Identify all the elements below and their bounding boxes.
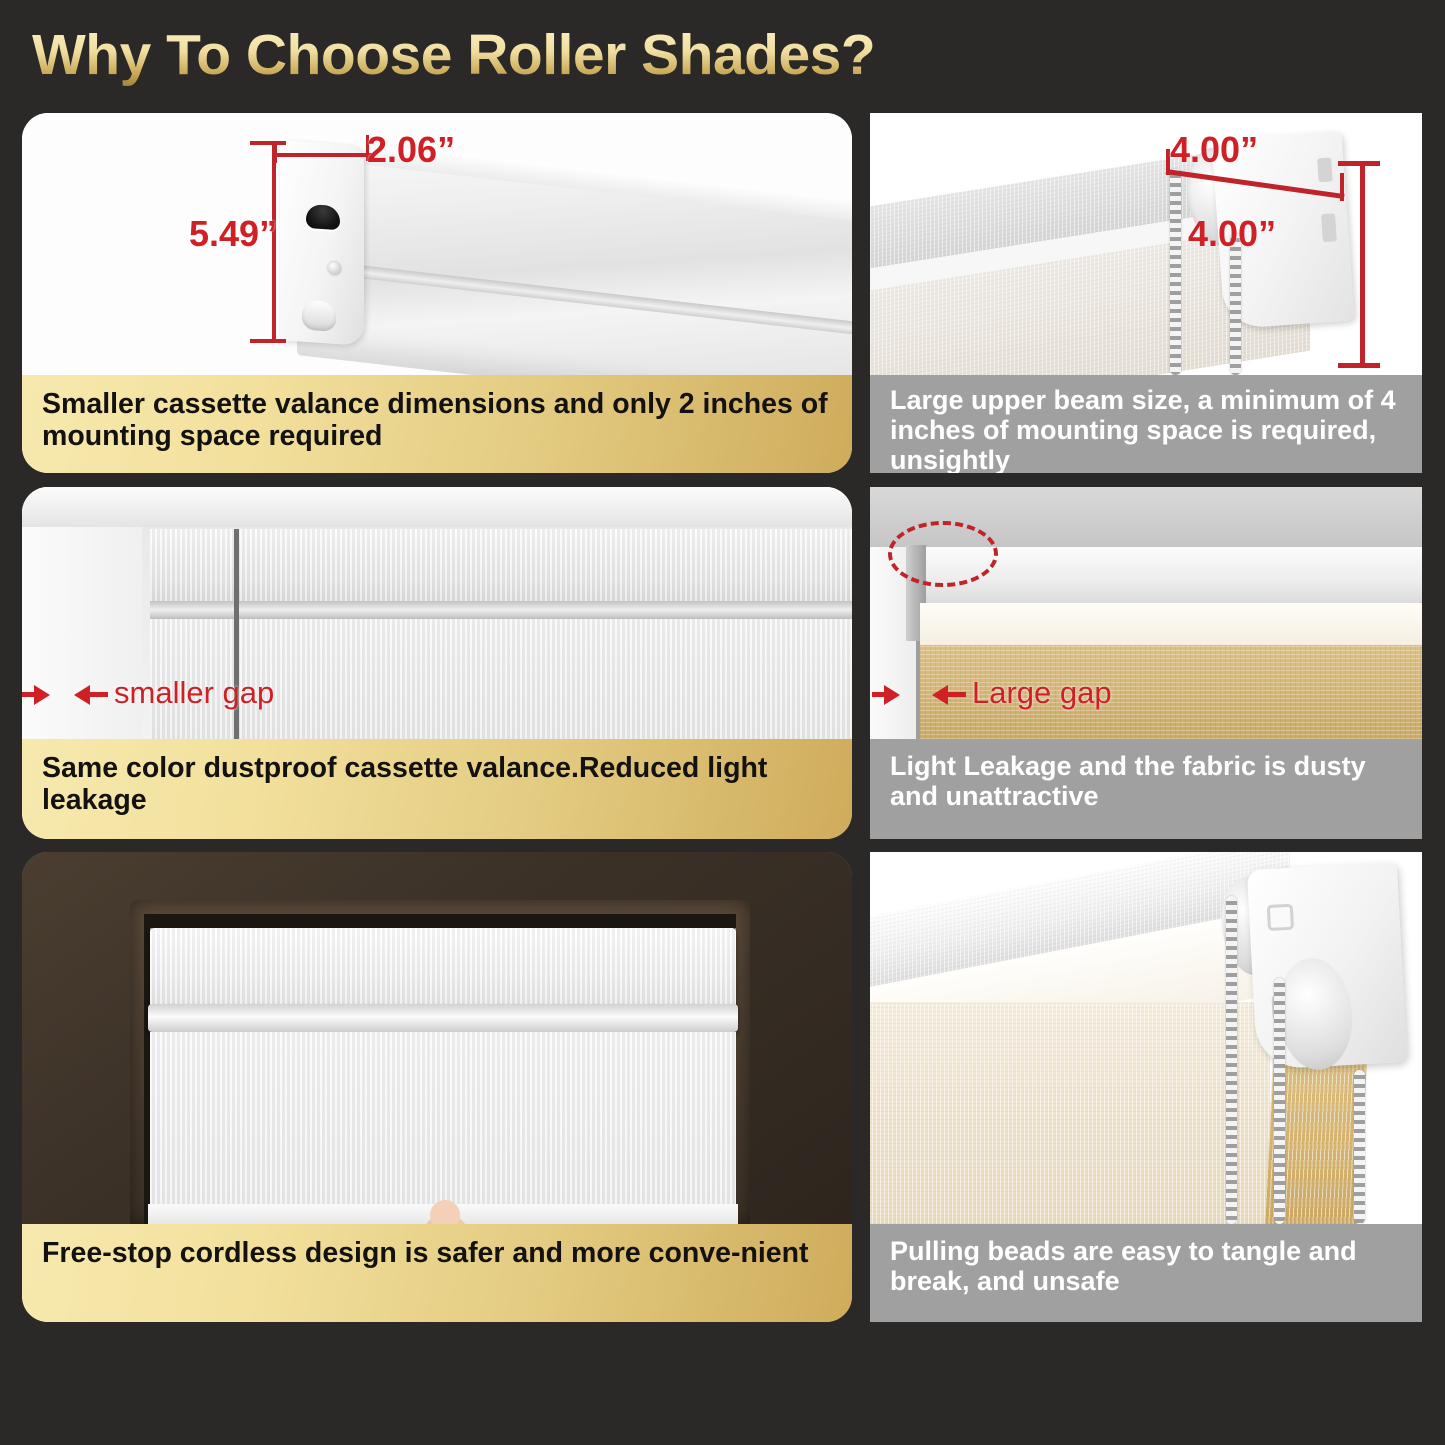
panel-smaller-gap: smaller gap Same color dustproof cassett…: [22, 487, 852, 839]
gap-highlight-ellipse: [888, 521, 998, 587]
panel-cordless-window-scene: Free-stop cordless design is safer and m…: [22, 852, 852, 1322]
shade-white-band: [920, 603, 1422, 645]
fabric-cream-panel: [870, 1002, 1270, 1224]
arrow-left-tail: [90, 692, 108, 697]
arrow-left-icon: [932, 685, 948, 705]
dimension-label-width: 2.06”: [367, 129, 455, 171]
panel-4-caption: Light Leakage and the fabric is dusty an…: [870, 739, 1422, 839]
bead-chain: [1170, 169, 1181, 375]
panel-3-photo: smaller gap: [22, 487, 852, 739]
arrow-right-tail: [22, 692, 38, 697]
panel-4-photo: Large gap: [870, 487, 1422, 739]
panel-5-caption: Free-stop cordless design is safer and m…: [22, 1224, 852, 1322]
dim-tick-h-top: [1338, 161, 1380, 166]
panel-2-photo: 4.00” 4.00”: [870, 113, 1422, 375]
cassette-knob: [302, 300, 336, 332]
cassette-valance: [150, 928, 736, 1014]
panel-6-photo: [870, 852, 1422, 1224]
panel-large-upper-beam: 4.00” 4.00” Large upper beam size, a min…: [870, 113, 1422, 473]
arrow-right-tail: [872, 692, 888, 697]
arrow-left-tail: [948, 692, 966, 697]
cassette-head: [150, 529, 852, 601]
dim-tick-w-right: [1340, 173, 1344, 201]
bead-chain: [1274, 978, 1285, 1224]
cassette-slot: [306, 204, 340, 230]
panel-1-photo: 2.06” 5.49”: [22, 113, 852, 375]
gap-label: Large gap: [972, 675, 1112, 711]
dim-line-height: [1360, 163, 1365, 368]
arrow-left-icon: [74, 685, 90, 705]
cassette-valance-body: [297, 135, 852, 375]
shade-fabric: [150, 1032, 736, 1204]
dim-line-width: [274, 153, 372, 157]
panel-5-photo: [22, 852, 852, 1224]
bead-chain: [1354, 1070, 1365, 1224]
dimension-label-height: 4.00”: [1188, 213, 1276, 255]
gap-label: smaller gap: [114, 675, 274, 711]
screw-icon: [328, 261, 341, 275]
panel-1-caption: Smaller cassette valance dimensions and …: [22, 375, 852, 473]
dimension-label-height: 5.49”: [189, 213, 277, 255]
panel-6-caption: Pulling beads are easy to tangle and bre…: [870, 1224, 1422, 1322]
dim-tick-h-bottom: [250, 339, 286, 343]
panel-3-caption: Same color dustproof cassette valance.Re…: [22, 739, 852, 839]
dim-tick-h-bottom: [1338, 363, 1380, 368]
page-title: Why To Choose Roller Shades?: [32, 22, 875, 88]
window-frame-top: [22, 487, 852, 527]
cassette-rail: [150, 601, 852, 619]
dim-tick-h-top: [250, 141, 286, 145]
valance-rail: [148, 1004, 738, 1032]
panel-large-gap: Large gap Light Leakage and the fabric i…: [870, 487, 1422, 839]
dimension-label-width: 4.00”: [1170, 129, 1258, 171]
panel-2-caption: Large upper beam size, a minimum of 4 in…: [870, 375, 1422, 473]
bead-chain: [1226, 896, 1237, 1224]
cassette-end-cap: [280, 140, 364, 346]
panel-smaller-cassette: 2.06” 5.49” Smaller cassette valance dim…: [22, 113, 852, 473]
panel-pulling-beads: Pulling beads are easy to tangle and bre…: [870, 852, 1422, 1322]
